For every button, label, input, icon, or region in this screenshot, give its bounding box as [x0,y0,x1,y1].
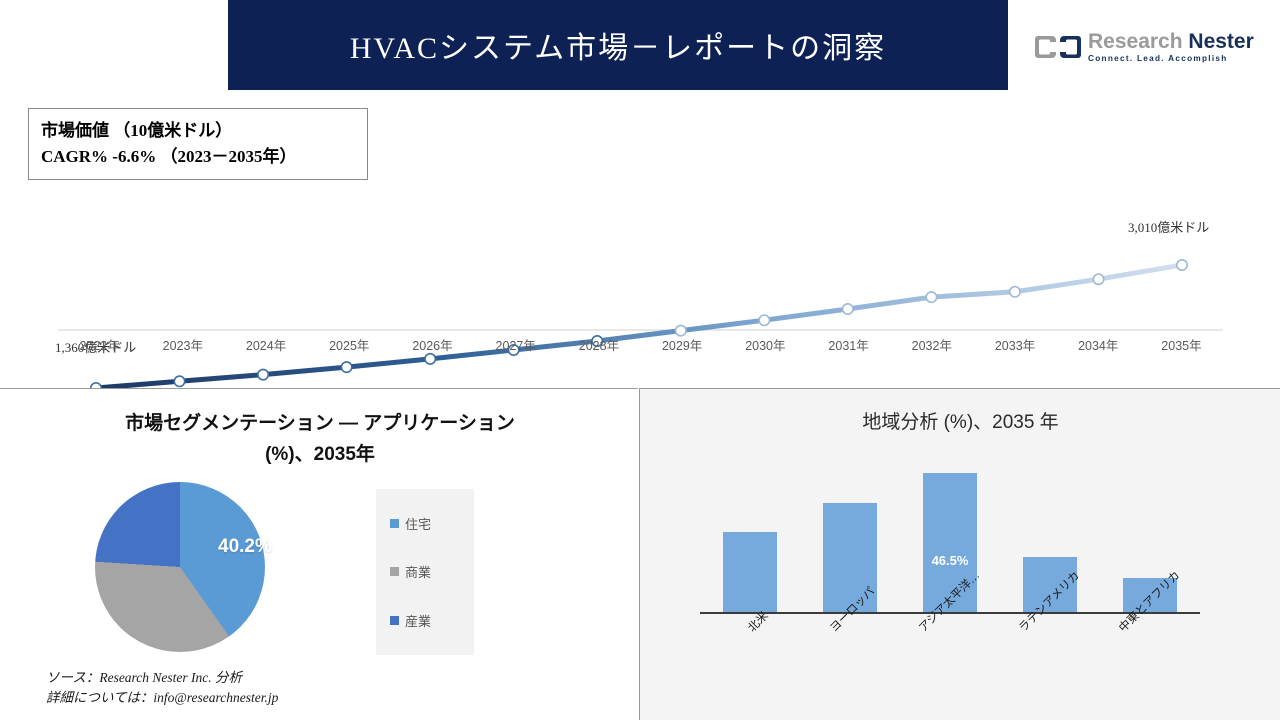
logo-word-nester: Nester [1188,30,1253,53]
source-line2: 詳細については：info@researchnester.jp [46,688,278,708]
legend-swatch-icon [390,519,399,528]
line-chart-x-tick: 2035年 [1140,335,1223,375]
bar-slot [800,462,900,612]
segmentation-title: 市場セグメンテーション ― アプリケーション (%)、2035年 [30,409,610,471]
line-chart-x-axis: 2022年2023年2024年2025年2026年2027年2028年2029年… [58,335,1223,375]
pie-value-label: 40.2% [218,536,272,558]
research-nester-logo: Research Nester Connect. Lead. Accomplis… [1035,22,1253,72]
pie-legend-label: 産業 [405,611,431,630]
legend-swatch-icon [390,616,399,625]
pie-legend-label: 商業 [405,562,431,581]
line-chart-x-tick: 2022年 [58,335,141,375]
line-data-point [1093,274,1103,284]
bar-label-slot: 北米 [700,614,800,694]
linked-chain-logo-icon [1035,32,1081,62]
pie-legend-item[interactable]: 住宅 [390,514,474,533]
pie-legend-item[interactable]: 産業 [390,611,474,630]
bar-label-slot: アジア太平洋… [900,614,1000,694]
source-note: ソース：Research Nester Inc. 分析 詳細については：info… [46,668,278,709]
page-title: HVACシステム市場－レポートの洞察 [350,23,886,67]
line-chart-x-tick: 2023年 [141,335,224,375]
line-data-point [926,292,936,302]
regional-title: 地域分析 (%)、2035 年 [640,407,1280,434]
line-chart-x-tick: 2029年 [641,335,724,375]
pie-disc [95,482,265,652]
bar-label-slot: ヨーロッパ [800,614,900,694]
line-chart-x-tick: 2034年 [1057,335,1140,375]
pie-legend: 住宅商業産業 [376,489,474,655]
line-chart-x-tick: 2028年 [557,335,640,375]
line-chart-x-tick: 2027年 [474,335,557,375]
line-data-point [759,315,769,325]
line-data-point [1010,287,1020,297]
title-banner: HVACシステム市場－レポートの洞察 [228,0,1008,90]
legend-swatch-icon [390,567,399,576]
line-data-point [1177,260,1187,270]
bar-value-label: 46.5% [932,553,969,568]
bar[interactable] [723,532,777,612]
bar-label-slot: 中東とアフリカ [1100,614,1200,694]
segmentation-pie-chart [95,482,265,652]
pie-legend-label: 住宅 [405,514,431,533]
bar-slot [700,462,800,612]
line-data-point [843,304,853,314]
line-chart-x-tick: 2024年 [224,335,307,375]
segmentation-title-line2: (%)、2035年 [30,440,610,471]
bar-chart-category-labels: 北米ヨーロッパアジア太平洋…ラテンアメリカ中東とアフリカ [700,614,1200,694]
logo-wordmark: Research Nester Connect. Lead. Accomplis… [1088,31,1254,63]
bar-label-slot: ラテンアメリカ [1000,614,1100,694]
line-chart-x-tick: 2030年 [724,335,807,375]
line-chart-x-tick: 2025年 [308,335,391,375]
market-value-line-chart: 市場価値 （10億米ドル） CAGR% -6.6% （2023－2035年） 1… [0,92,1280,388]
line-chart-x-tick: 2033年 [973,335,1056,375]
pie-legend-item[interactable]: 商業 [390,562,474,581]
line-data-point [174,376,184,386]
logo-tagline: Connect. Lead. Accomplish [1088,55,1254,63]
header: HVACシステム市場－レポートの洞察 Research Nester Conne… [0,0,1280,92]
line-chart-x-tick: 2026年 [391,335,474,375]
line-chart-x-tick: 2031年 [807,335,890,375]
infographic-page: HVACシステム市場－レポートの洞察 Research Nester Conne… [0,0,1280,720]
logo-word-research: Research [1088,30,1183,53]
source-line1: ソース：Research Nester Inc. 分析 [46,668,278,688]
line-chart-x-tick: 2032年 [890,335,973,375]
segmentation-title-line1: 市場セグメンテーション ― アプリケーション [30,409,610,440]
logo-name-row: Research Nester [1088,31,1254,52]
